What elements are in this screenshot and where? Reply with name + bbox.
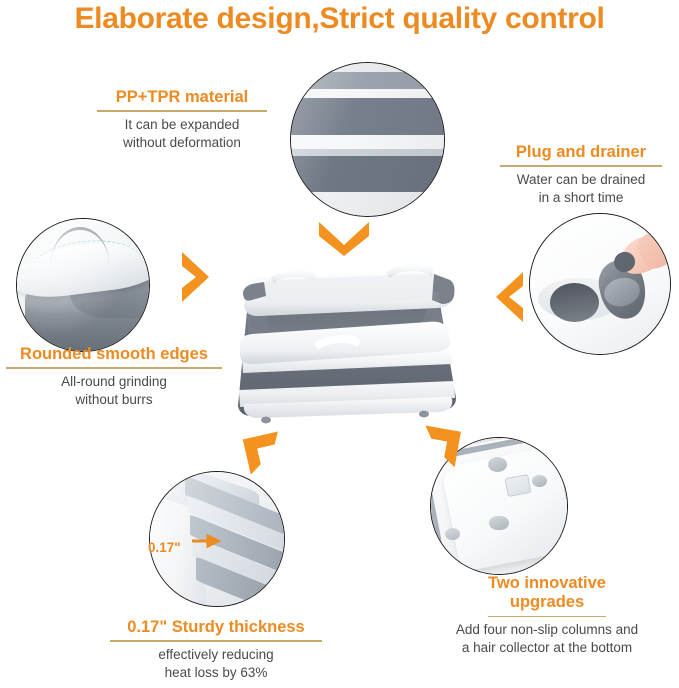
inset-rounded-rim-closeup bbox=[16, 218, 150, 352]
plug-knob bbox=[611, 249, 637, 275]
callout-heading: PP+TPR material bbox=[84, 88, 280, 107]
wall-front-face bbox=[149, 471, 206, 607]
thickness-background bbox=[150, 472, 284, 606]
drain-basin bbox=[538, 278, 622, 320]
callout-body-line-1: Add four non-slip columns and bbox=[415, 621, 679, 639]
heading-underline bbox=[6, 367, 222, 369]
hair-collector bbox=[504, 474, 532, 497]
callout-body-line-1: effectively reducing bbox=[102, 646, 330, 664]
rim-guide-line bbox=[26, 236, 142, 275]
rubber-plug-fold bbox=[601, 274, 644, 311]
callout-sturdy-thickness: 0.17" Sturdy thickness effectively reduc… bbox=[102, 618, 330, 682]
heading-underline bbox=[500, 165, 662, 167]
callout-body-line-2: heat loss by 63% bbox=[102, 664, 330, 682]
callout-heading: Plug and drainer bbox=[488, 143, 674, 162]
page-title: Elaborate design,Strict quality control bbox=[0, 2, 679, 36]
rubber-plug bbox=[594, 256, 650, 323]
rim-highlight bbox=[17, 219, 149, 351]
callout-body-line-2: without burrs bbox=[2, 391, 226, 409]
rim-background bbox=[17, 219, 149, 351]
collapsed-ring-2 bbox=[188, 496, 285, 555]
callout-heading-line-2: upgrades bbox=[415, 593, 679, 612]
collapsed-ring-5 bbox=[196, 556, 285, 607]
callout-heading-line-1: Two innovative bbox=[415, 574, 679, 593]
inset-material-stripes-closeup bbox=[290, 62, 445, 217]
chevron-right-icon bbox=[176, 248, 216, 306]
non-slip-column bbox=[532, 475, 547, 487]
callout-two-innovative-upgrades: Two innovative upgrades Add four non-sli… bbox=[415, 574, 679, 657]
stripe-pattern bbox=[291, 63, 444, 216]
plug-surface bbox=[530, 214, 670, 354]
inset-drain-plug-closeup bbox=[529, 213, 671, 355]
callout-body-line-1: It can be expanded bbox=[84, 116, 280, 134]
rim-handle-arc bbox=[51, 227, 109, 264]
inset-wall-thickness-closeup bbox=[149, 471, 285, 607]
callout-pp-tpr-material: PP+TPR material It can be expanded witho… bbox=[84, 88, 280, 152]
rim-wall-gray bbox=[25, 277, 150, 352]
hand-arm bbox=[633, 219, 671, 273]
callout-heading: Rounded smooth edges bbox=[2, 345, 226, 364]
callout-body-line-1: All-round grinding bbox=[2, 373, 226, 391]
rim-white-band bbox=[16, 237, 150, 302]
non-slip-column bbox=[489, 516, 508, 531]
thickness-arrow-icon bbox=[192, 534, 228, 548]
heading-underline bbox=[97, 110, 267, 112]
callout-body-line-1: Water can be drained bbox=[488, 171, 674, 189]
thickness-measurement-label: 0.17" bbox=[148, 540, 181, 555]
product-image-collapsible-laundry-basket bbox=[218, 248, 468, 446]
collapsed-ring-4 bbox=[193, 537, 285, 597]
rim-inner-shadow bbox=[70, 259, 150, 318]
callout-plug-and-drainer: Plug and drainer Water can be drained in… bbox=[488, 143, 674, 207]
hand-icon bbox=[614, 231, 667, 280]
heading-underline bbox=[488, 616, 606, 618]
infographic-page: Elaborate design,Strict quality control … bbox=[0, 0, 679, 688]
callout-body-line-2: without deformation bbox=[84, 134, 280, 152]
callout-heading: 0.17" Sturdy thickness bbox=[102, 618, 330, 637]
callout-body-line-2: a hair collector at the bottom bbox=[415, 639, 679, 657]
chevron-left-icon bbox=[489, 268, 529, 326]
drain-hole bbox=[550, 283, 599, 322]
heading-underline bbox=[110, 640, 322, 642]
collapsed-ring-1 bbox=[185, 476, 285, 537]
callout-body-line-2: in a short time bbox=[488, 189, 674, 207]
collapsed-ring-3 bbox=[190, 514, 285, 577]
non-slip-column bbox=[445, 528, 460, 540]
non-slip-column bbox=[488, 457, 507, 472]
callout-rounded-smooth-edges: Rounded smooth edges All-round grinding … bbox=[2, 345, 226, 409]
